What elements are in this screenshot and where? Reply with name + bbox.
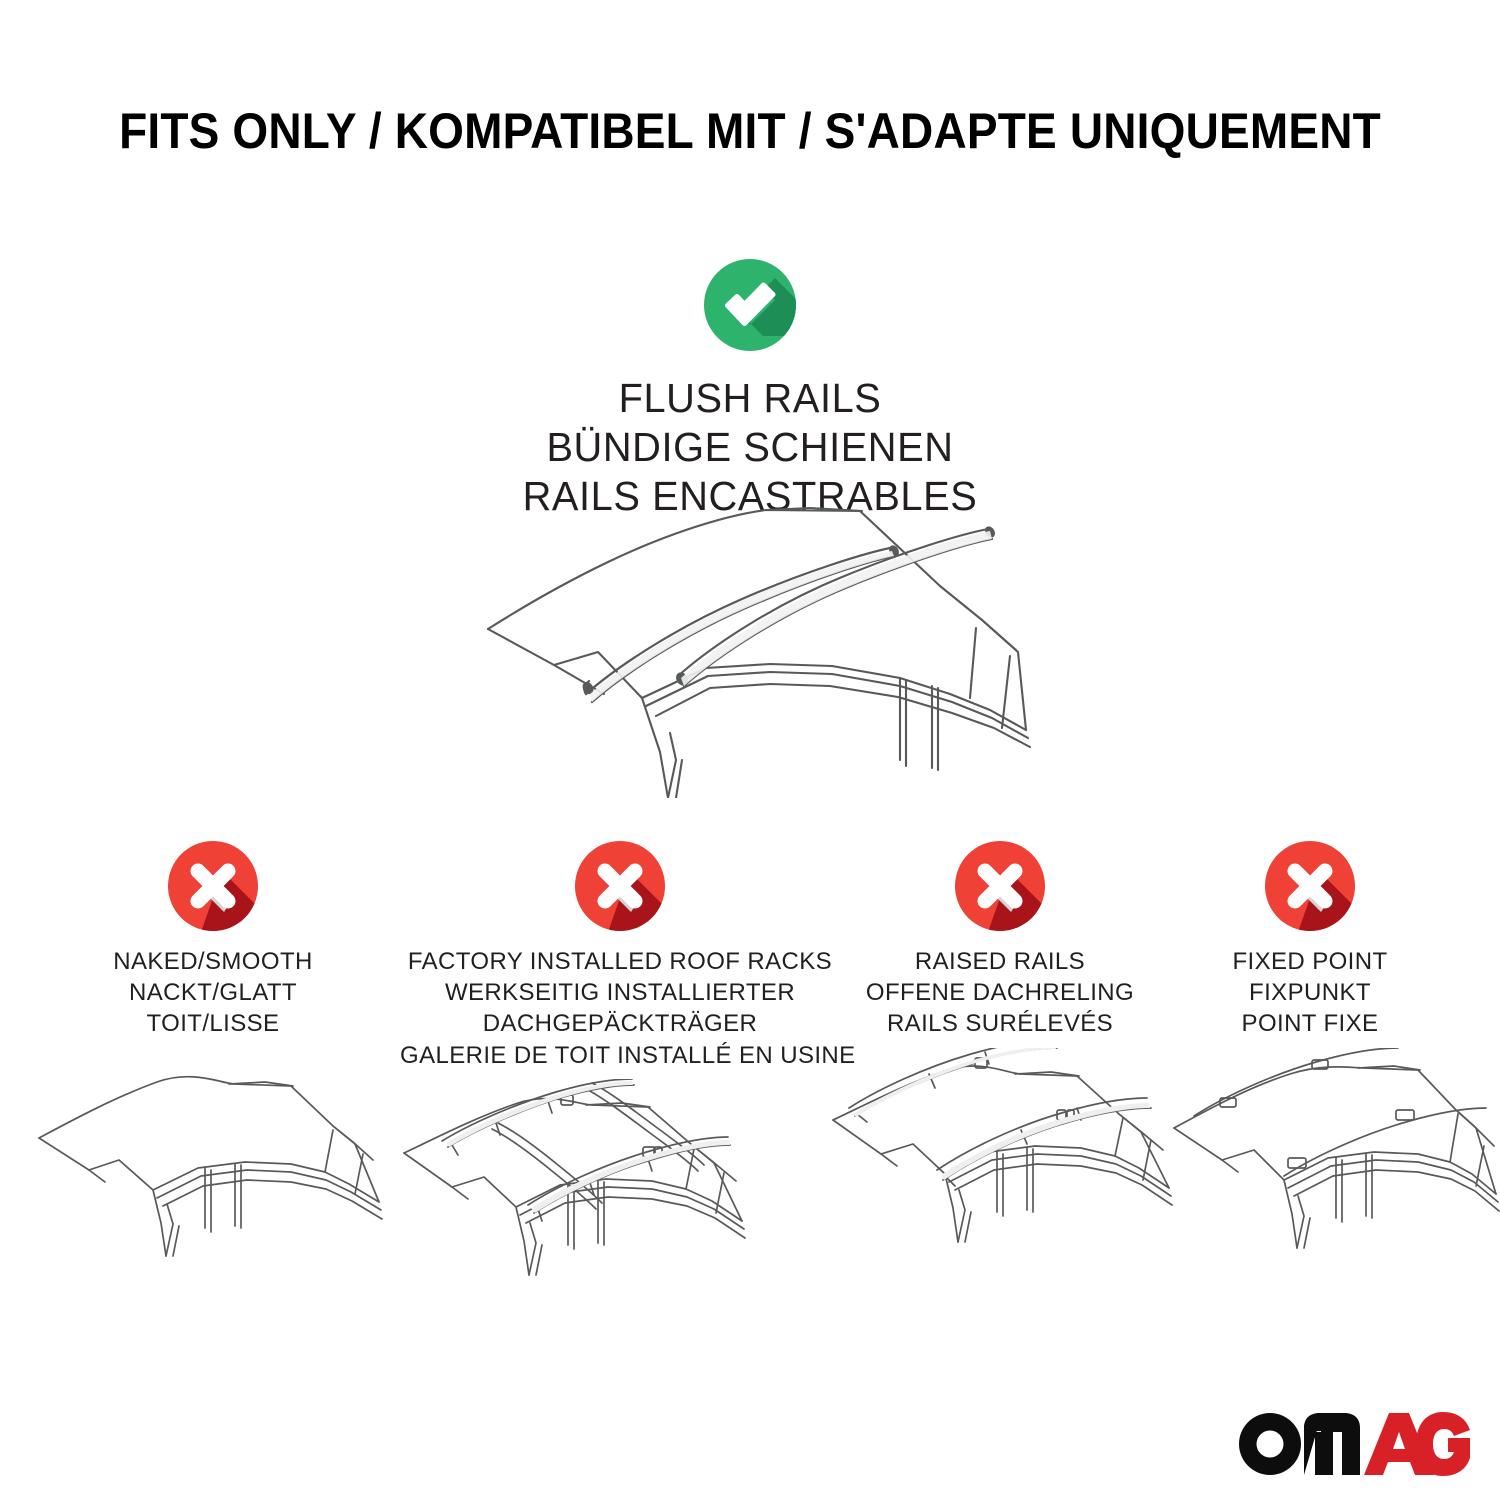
caption-line-fr: GALERIE DE TOIT INSTALLÉ EN USINE	[400, 1040, 840, 1071]
compatible-label-de: BÜNDIGE SCHIENEN	[23, 423, 1478, 472]
caption-line-en: NAKED/SMOOTH	[33, 946, 393, 977]
omac-logo	[1238, 1412, 1470, 1476]
caption-line-de: OFFENE DACHRELING	[845, 977, 1155, 1008]
caption-line-fr: TOIT/LISSE	[33, 1008, 393, 1039]
car-roof-factory-roof-racks-illustration	[400, 1079, 840, 1309]
caption-line-de: NACKT/GLATT	[33, 977, 393, 1008]
incompatible-column-naked-smooth: NAKED/SMOOTH NACKT/GLATT TOIT/LISSE	[33, 840, 393, 1278]
compatible-block: FLUSH RAILS BÜNDIGE SCHIENEN RAILS ENCAS…	[0, 258, 1500, 520]
incompatible-caption: NAKED/SMOOTH NACKT/GLATT TOIT/LISSE	[33, 946, 393, 1040]
car-roof-fixed-point-illustration	[1160, 1048, 1460, 1278]
incompatible-column-raised-rails: RAISED RAILS OFFENE DACHRELING RAILS SUR…	[845, 840, 1155, 1278]
incompatible-caption: RAISED RAILS OFFENE DACHRELING RAILS SUR…	[845, 946, 1155, 1040]
incompatible-columns: NAKED/SMOOTH NACKT/GLATT TOIT/LISSE	[0, 840, 1500, 1300]
x-circle-icon	[167, 840, 259, 932]
incompatible-column-fixed-point: FIXED POINT FIXPUNKT POINT FIXE	[1160, 840, 1460, 1278]
caption-line-en: RAISED RAILS	[845, 946, 1155, 977]
incompatible-caption: FACTORY INSTALLED ROOF RACKS WERKSEITIG …	[400, 946, 840, 1071]
caption-line-en: FIXED POINT	[1160, 946, 1460, 977]
check-circle-icon	[703, 258, 797, 352]
incompatible-caption: FIXED POINT FIXPUNKT POINT FIXE	[1160, 946, 1460, 1040]
page-title: FITS ONLY / KOMPATIBEL MIT / S'ADAPTE UN…	[60, 102, 1440, 160]
flush-rails-roof-illustration	[470, 498, 1040, 798]
x-circle-icon	[574, 840, 666, 932]
caption-line-en: FACTORY INSTALLED ROOF RACKS	[400, 946, 840, 977]
compatibility-infographic: FITS ONLY / KOMPATIBEL MIT / S'ADAPTE UN…	[0, 0, 1500, 1500]
compatible-label-en: FLUSH RAILS	[23, 374, 1478, 423]
x-circle-icon	[1264, 840, 1356, 932]
car-roof-raised-rails-illustration	[845, 1048, 1155, 1278]
caption-line-fr: RAILS SURÉLEVÉS	[845, 1008, 1155, 1039]
car-roof-naked-smooth-illustration	[33, 1048, 393, 1278]
caption-line-fr: POINT FIXE	[1160, 1008, 1460, 1039]
caption-line-de-1: WERKSEITIG INSTALLIERTER	[400, 977, 840, 1008]
caption-line-de: FIXPUNKT	[1160, 977, 1460, 1008]
caption-line-de-2: DACHGEPÄCKTRÄGER	[400, 1008, 840, 1039]
incompatible-column-factory-roof-racks: FACTORY INSTALLED ROOF RACKS WERKSEITIG …	[400, 840, 840, 1309]
x-circle-icon	[954, 840, 1046, 932]
